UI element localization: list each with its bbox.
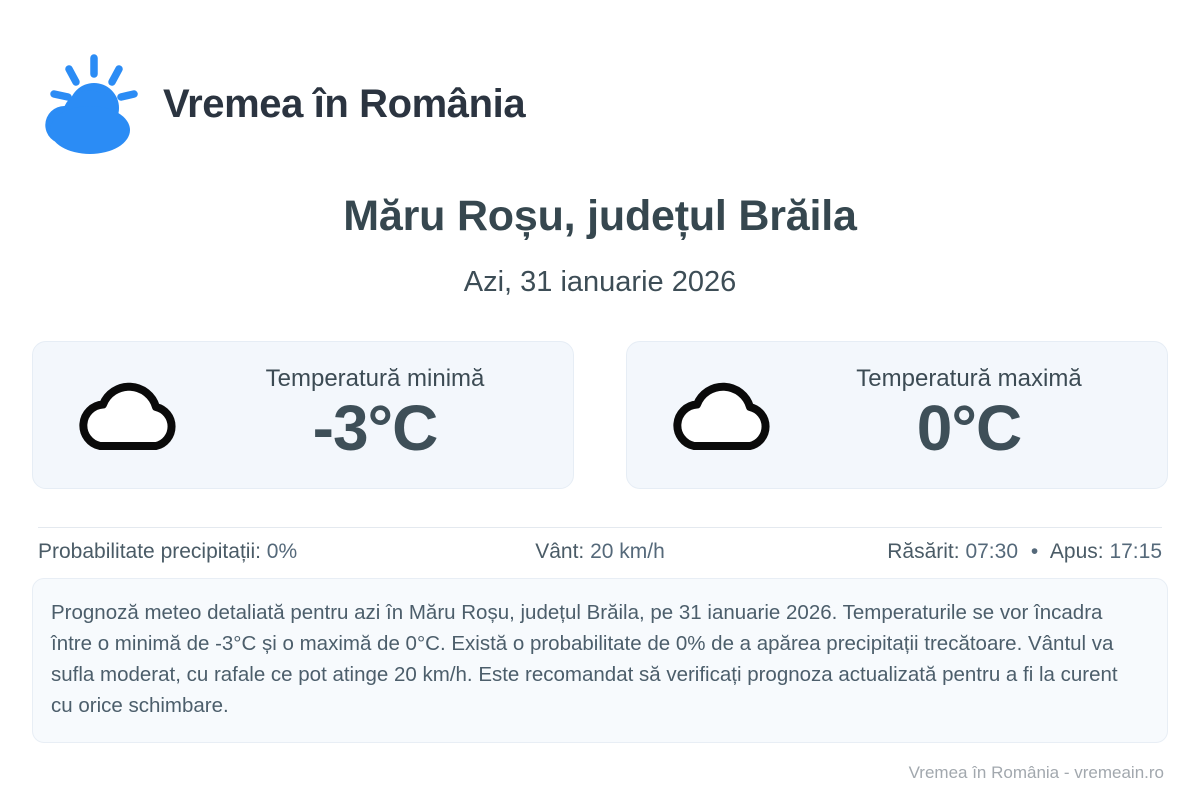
precipitation-stat: Probabilitate precipitații: 0%	[38, 540, 413, 564]
sunrise-label: Răsărit:	[887, 540, 959, 563]
sun-times-separator: •	[1024, 540, 1045, 563]
forecast-description-text: Prognoză meteo detaliată pentru azi în M…	[51, 597, 1143, 722]
temperature-cards: Temperatură minimă -3°C Temperatură maxi…	[32, 341, 1168, 489]
footer-credit: Vremea în România - vremeain.ro	[909, 763, 1164, 783]
min-temperature-value: -3°C	[313, 395, 438, 462]
forecast-description-box: Prognoză meteo detaliată pentru azi în M…	[32, 578, 1168, 743]
wind-stat: Vânt: 20 km/h	[413, 540, 788, 564]
max-temperature-value: 0°C	[917, 395, 1021, 462]
max-temperature-label: Temperatură maximă	[856, 366, 1081, 392]
cloud-icon	[661, 372, 785, 458]
wind-value: 20 km/h	[590, 540, 665, 563]
max-temperature-body: Temperatură maximă 0°C	[785, 366, 1153, 462]
sun-times-stat: Răsărit: 07:30 • Apus: 17:15	[787, 540, 1162, 564]
cloud-icon	[67, 372, 191, 458]
min-temperature-body: Temperatură minimă -3°C	[191, 366, 559, 462]
sun-behind-cloud-icon	[38, 52, 143, 157]
brand-name: Vremea în România	[163, 83, 525, 126]
sunset-label: Apus:	[1050, 540, 1104, 563]
max-temperature-card: Temperatură maximă 0°C	[626, 341, 1168, 489]
stats-row: Probabilitate precipitații: 0% Vânt: 20 …	[38, 540, 1162, 564]
page-title: Măru Roșu, județul Brăila	[0, 192, 1200, 241]
stats-divider	[38, 527, 1162, 528]
site-header: Vremea în România	[38, 52, 525, 157]
wind-label: Vânt:	[535, 540, 584, 563]
weather-page: Vremea în România Măru Roșu, județul Bră…	[0, 0, 1200, 800]
min-temperature-label: Temperatură minimă	[266, 366, 485, 392]
precipitation-value: 0%	[267, 540, 297, 563]
sunrise-value: 07:30	[965, 540, 1018, 563]
sunset-value: 17:15	[1109, 540, 1162, 563]
page-subtitle: Azi, 31 ianuarie 2026	[0, 266, 1200, 299]
precipitation-label: Probabilitate precipitații:	[38, 540, 261, 563]
min-temperature-card: Temperatură minimă -3°C	[32, 341, 574, 489]
